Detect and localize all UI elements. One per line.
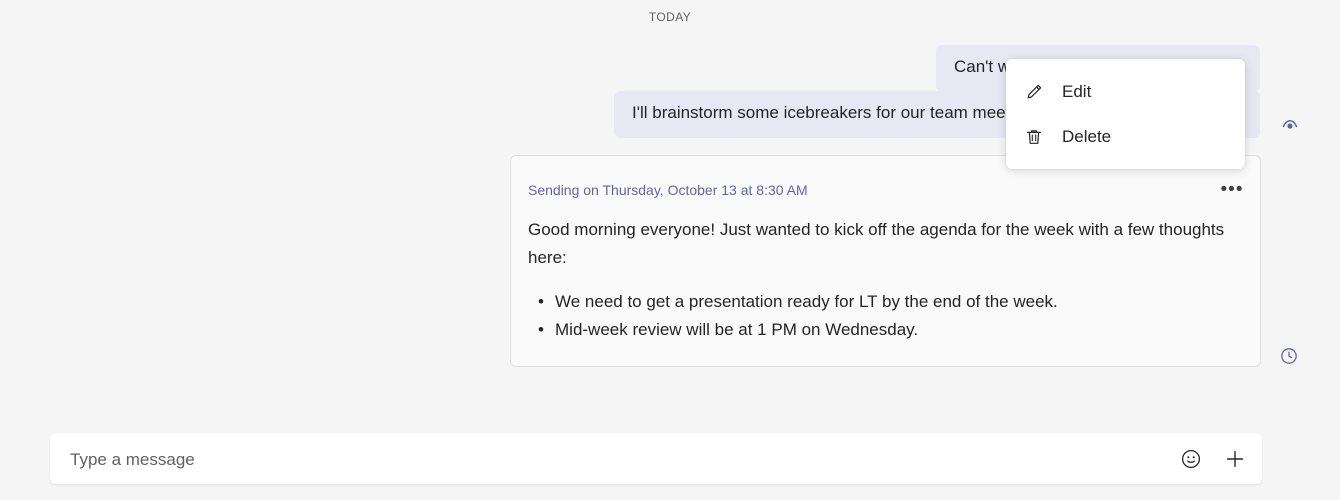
menu-item-delete[interactable]: Delete	[1006, 114, 1245, 159]
list-item: Mid-week review will be at 1 PM on Wedne…	[555, 316, 1232, 344]
compose-actions	[1178, 433, 1248, 484]
message-text: I'll brainstorm some icebreakers for our…	[632, 103, 1038, 122]
list-item: We need to get a presentation ready for …	[555, 288, 1232, 316]
scheduled-message-bullets: We need to get a presentation ready for …	[528, 288, 1232, 344]
context-menu[interactable]: Edit Delete	[1006, 59, 1245, 169]
day-divider-label: TODAY	[649, 10, 691, 24]
clock-icon	[1280, 347, 1298, 370]
message-input[interactable]	[68, 433, 1172, 486]
pencil-icon	[1024, 82, 1052, 102]
scheduled-send-time: Sending on Thursday, October 13 at 8:30 …	[528, 182, 808, 198]
more-options-button[interactable]: •••	[1218, 176, 1246, 204]
plus-icon[interactable]	[1222, 446, 1248, 472]
scheduled-message-paragraph: Good morning everyone! Just wanted to ki…	[528, 216, 1232, 272]
scheduled-message-card[interactable]: Sending on Thursday, October 13 at 8:30 …	[510, 155, 1261, 367]
menu-item-label: Delete	[1062, 127, 1111, 147]
compose-box[interactable]	[50, 433, 1262, 484]
seen-icon	[1280, 114, 1300, 139]
day-divider: TODAY	[0, 8, 1340, 26]
trash-icon	[1024, 127, 1052, 147]
menu-item-label: Edit	[1062, 82, 1091, 102]
emoji-icon[interactable]	[1178, 446, 1204, 472]
scheduled-message-body: Good morning everyone! Just wanted to ki…	[528, 216, 1232, 344]
more-options-label: •••	[1221, 186, 1244, 194]
menu-item-edit[interactable]: Edit	[1006, 69, 1245, 114]
